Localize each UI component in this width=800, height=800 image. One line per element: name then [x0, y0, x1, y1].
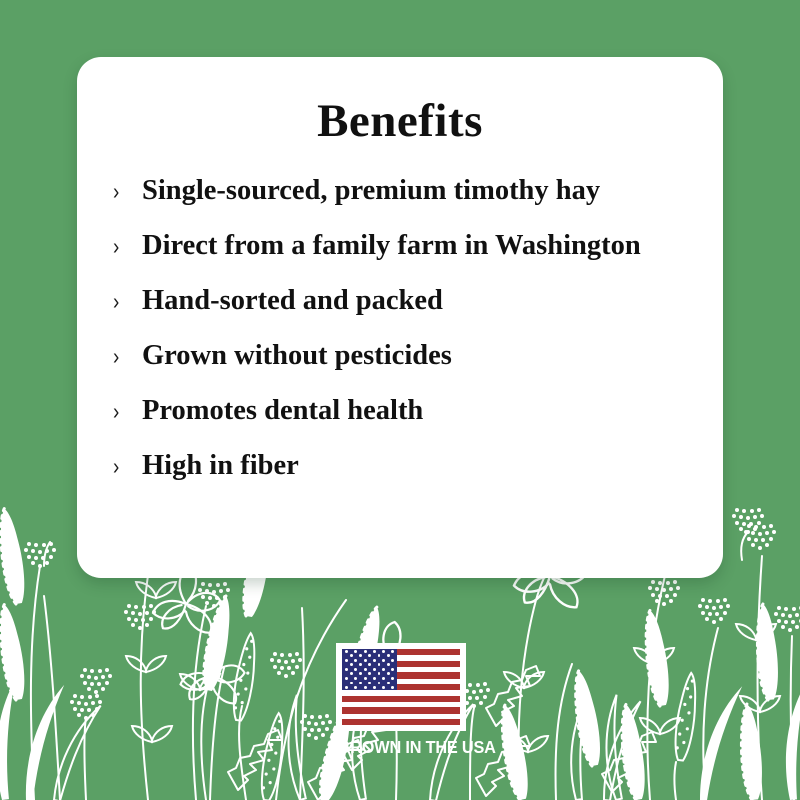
list-item-label: High in fiber — [142, 452, 299, 481]
benefits-card: Benefits › Single-sourced, premium timot… — [77, 57, 723, 578]
chevron-right-icon: › — [113, 180, 137, 203]
product-benefits-graphic: Benefits › Single-sourced, premium timot… — [0, 0, 800, 800]
grown-in-usa-badge: GROWN IN THE USA — [333, 643, 469, 758]
chevron-right-icon: › — [113, 400, 137, 423]
flag-star-row — [342, 685, 397, 690]
usa-flag-icon — [336, 643, 466, 731]
chevron-right-icon: › — [113, 290, 137, 313]
grown-in-usa-caption: GROWN IN THE USA — [338, 737, 464, 758]
list-item-label: Direct from a family farm in Washington — [142, 232, 641, 261]
list-item-label: Promotes dental health — [142, 397, 423, 426]
page-title: Benefits — [77, 57, 723, 145]
chevron-right-icon: › — [113, 455, 137, 478]
chevron-right-icon: › — [113, 345, 137, 368]
list-item: › Grown without pesticides — [113, 342, 703, 397]
list-item-label: Grown without pesticides — [142, 342, 452, 371]
list-item: › High in fiber — [113, 452, 703, 507]
flag-stripe — [342, 707, 460, 713]
list-item: › Single-sourced, premium timothy hay — [113, 177, 703, 232]
list-item: › Promotes dental health — [113, 397, 703, 452]
flag-stripe — [342, 719, 460, 725]
flag-stripe — [342, 696, 460, 702]
flag-canton — [342, 649, 397, 690]
benefits-list: › Single-sourced, premium timothy hay › … — [113, 177, 703, 507]
chevron-right-icon: › — [113, 235, 137, 258]
list-item-label: Single-sourced, premium timothy hay — [142, 177, 600, 206]
list-item: › Direct from a family farm in Washingto… — [113, 232, 703, 287]
flag-stripes — [342, 649, 460, 725]
list-item-label: Hand-sorted and packed — [142, 287, 443, 316]
list-item: › Hand-sorted and packed — [113, 287, 703, 342]
